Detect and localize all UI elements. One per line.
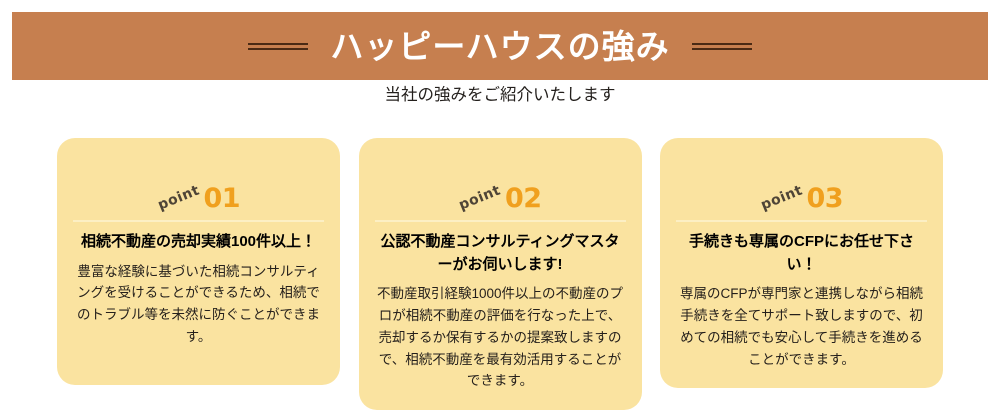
point-number: 01: [204, 185, 241, 212]
point-word-label: point: [457, 182, 503, 213]
point-badge-02: point 02: [458, 168, 541, 212]
card-divider: [676, 220, 927, 222]
point-number: 03: [807, 185, 844, 212]
card-heading: 相続不動産の売却実績100件以上！: [81, 231, 316, 254]
card-heading: 公認不動産コンサルティングマスターがお伺いします!: [375, 231, 626, 276]
point-badge-01: point 01: [157, 168, 240, 212]
card-divider: [375, 220, 626, 222]
double-rule-left-icon: [248, 42, 308, 51]
point-word-label: point: [155, 182, 201, 213]
point-card-01: point 01 相続不動産の売却実績100件以上！ 豊富な経験に基づいた相続コ…: [57, 138, 340, 385]
point-card-02: point 02 公認不動産コンサルティングマスターがお伺いします! 不動産取引…: [359, 138, 642, 410]
double-rule-right-icon: [692, 42, 752, 51]
point-word-label: point: [758, 182, 804, 213]
page-title: ハッピーハウスの強み: [330, 30, 669, 63]
point-card-03: point 03 手続きも専属のCFPにお任せ下さい！ 専属のCFPが専門家と連…: [660, 138, 943, 388]
card-heading: 手続きも専属のCFPにお任せ下さい！: [676, 231, 927, 276]
card-body-text: 豊富な経験に基づいた相続コンサルティングを受けることができるため、相続でのトラブ…: [73, 261, 324, 348]
point-badge-03: point 03: [760, 168, 843, 212]
card-divider: [73, 220, 324, 222]
header-inner: ハッピーハウスの強み: [248, 30, 751, 63]
point-cards-container: point 01 相続不動産の売却実績100件以上！ 豊富な経験に基づいた相続コ…: [57, 138, 943, 410]
point-number: 02: [505, 185, 542, 212]
card-body-text: 専属のCFPが専門家と連携しながら相続手続きを全てサポート致しますので、初めての…: [676, 283, 927, 370]
section-subtitle: 当社の強みをご紹介いたします: [0, 85, 1000, 106]
section-header-band: ハッピーハウスの強み: [12, 12, 988, 80]
card-body-text: 不動産取引経験1000件以上の不動産のプロが相続不動産の評価を行なった上で、売却…: [375, 283, 626, 392]
